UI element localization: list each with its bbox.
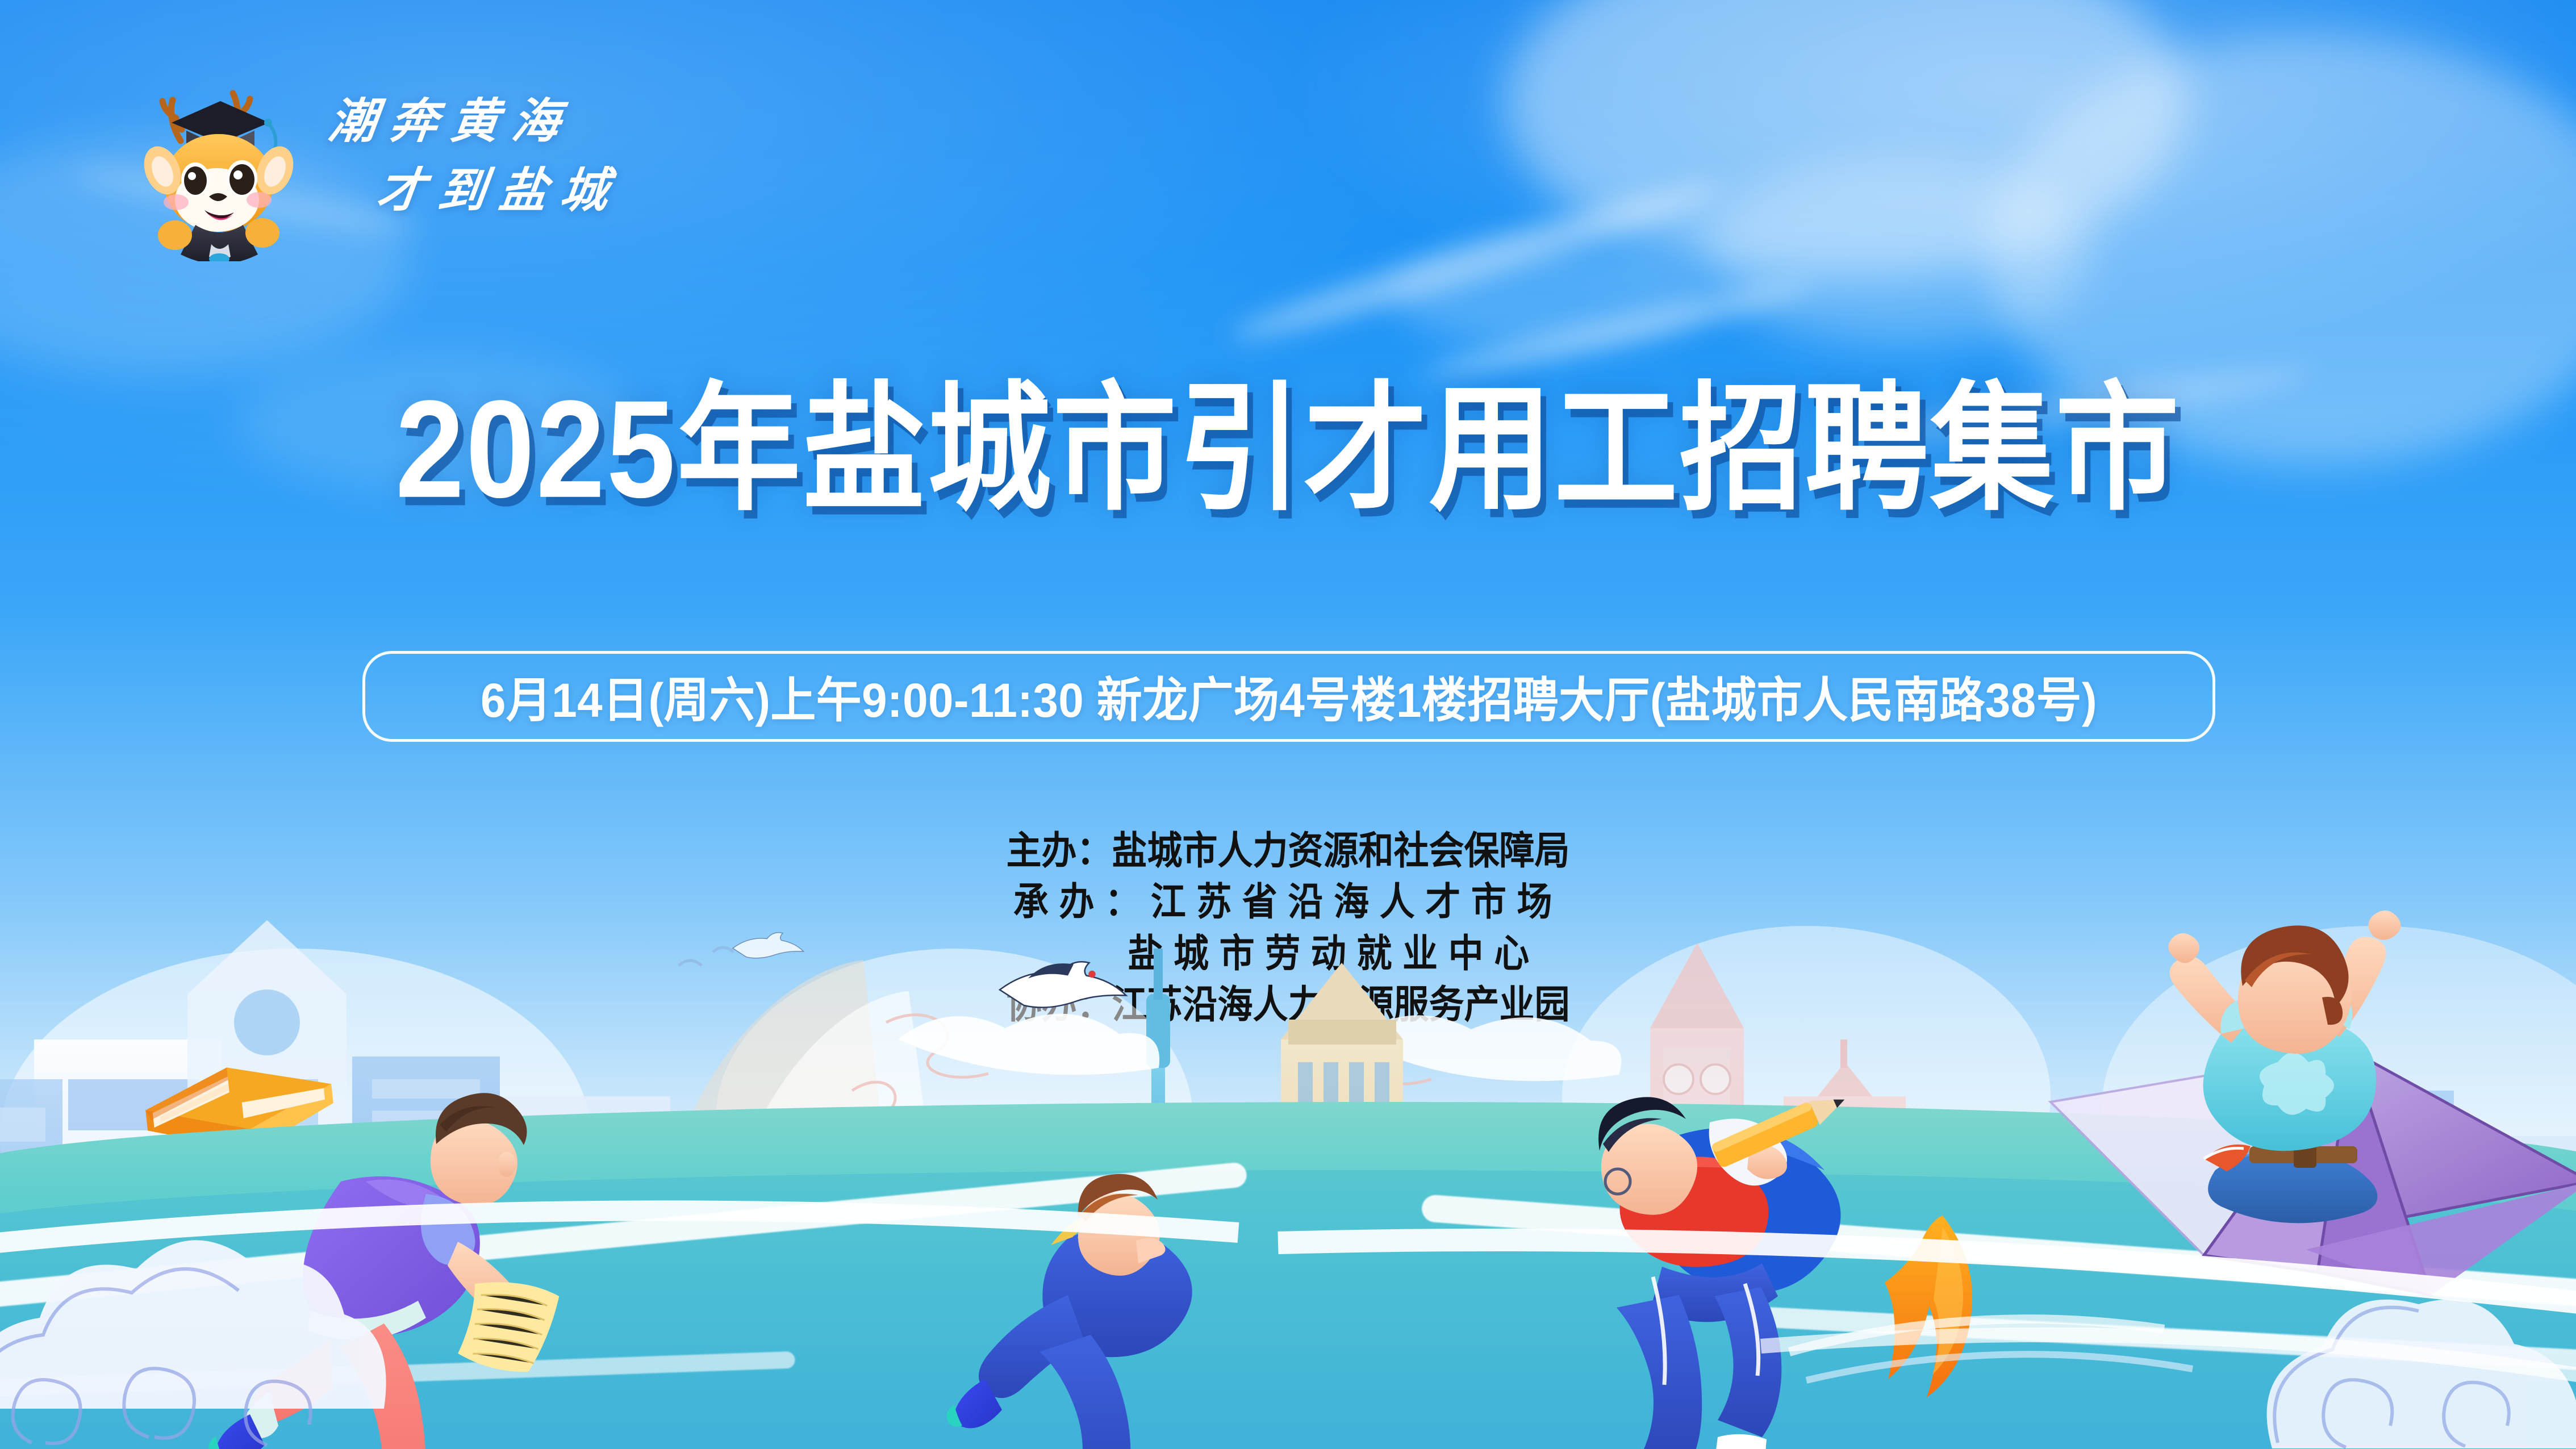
event-info-text: 6月14日(周六)上午9:00-11:30 新龙广场4号楼1楼招聘大厅(盐城市人… [481, 662, 2097, 732]
slogan-line-2: 才到盐城 [374, 152, 627, 221]
slogan-line-1: 潮奔黄海 [325, 83, 578, 152]
figures-svg [0, 852, 2576, 1449]
pencil-runner-center-right [1598, 1088, 1850, 1449]
cloud-wisp [1704, 159, 2090, 346]
page-title: 2025年盐城市引才用工招聘集市 [0, 376, 2576, 523]
seated-flyer-right [2051, 911, 2576, 1295]
brand-slogan: 潮奔黄海 才到盐城 [307, 80, 795, 261]
illustration-scene [0, 852, 2576, 1449]
deer-mascot-icon [136, 74, 301, 261]
event-info-bar: 6月14日(周六)上午9:00-11:30 新龙广场4号楼1楼招聘大厅(盐城市人… [362, 651, 2215, 742]
brand-logo: 潮奔黄海 才到盐城 [136, 74, 807, 273]
poster-canvas: 潮奔黄海 才到盐城 2025年盐城市引才用工招聘集市 6月14日(周六)上午9:… [0, 0, 2576, 1449]
